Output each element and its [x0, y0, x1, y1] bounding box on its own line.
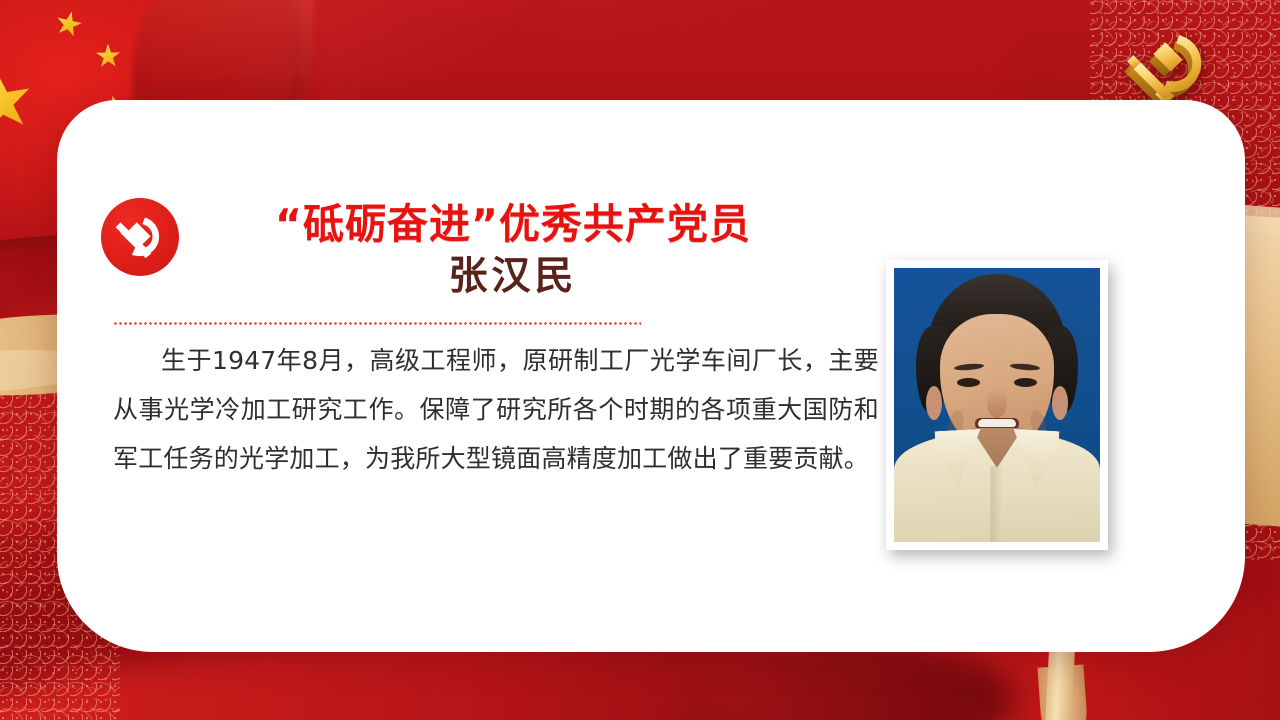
title-block: “砥砺奋进”优秀共产党员 张汉民	[203, 202, 823, 301]
flag-star-small-2	[96, 44, 121, 69]
portrait-nose	[987, 388, 1007, 418]
dotted-divider	[113, 322, 641, 325]
flag-star-large	[0, 67, 37, 138]
portrait-caption: 张汉民证件照	[894, 542, 895, 543]
portrait-frame: 张汉民证件照	[886, 260, 1108, 550]
portrait-teeth	[978, 419, 1016, 427]
content-card: “砥砺奋进”优秀共产党员 张汉民 生于1947年8月，高级工程师，原研制工厂光学…	[57, 100, 1245, 652]
person-name: 张汉民	[203, 252, 823, 301]
hammer-sickle-emblem-icon	[1112, 24, 1224, 108]
party-badge-icon	[101, 198, 179, 276]
slide-canvas: “砥砺奋进”优秀共产党员 张汉民 生于1947年8月，高级工程师，原研制工厂光学…	[0, 0, 1280, 720]
portrait-collar-left	[935, 429, 984, 487]
portrait-shirt	[894, 432, 1100, 542]
portrait-ear-left	[926, 386, 942, 420]
portrait-photo	[894, 268, 1100, 542]
flag-star-small-1	[53, 9, 84, 40]
portrait-ear-right	[1052, 386, 1068, 420]
portrait-eye-left	[957, 378, 980, 387]
portrait-eye-right	[1014, 378, 1037, 387]
portrait-eyebrow-left	[954, 363, 984, 372]
award-title: “砥砺奋进”优秀共产党员	[203, 202, 823, 246]
portrait-collar-right	[1011, 429, 1060, 487]
portrait-neckline	[971, 428, 1023, 468]
portrait-eyebrow-right	[1010, 363, 1040, 372]
portrait-placket	[991, 466, 1004, 542]
biography-text: 生于1947年8月，高级工程师，原研制工厂光学车间厂长，主要从事光学冷加工研究工…	[113, 336, 879, 483]
